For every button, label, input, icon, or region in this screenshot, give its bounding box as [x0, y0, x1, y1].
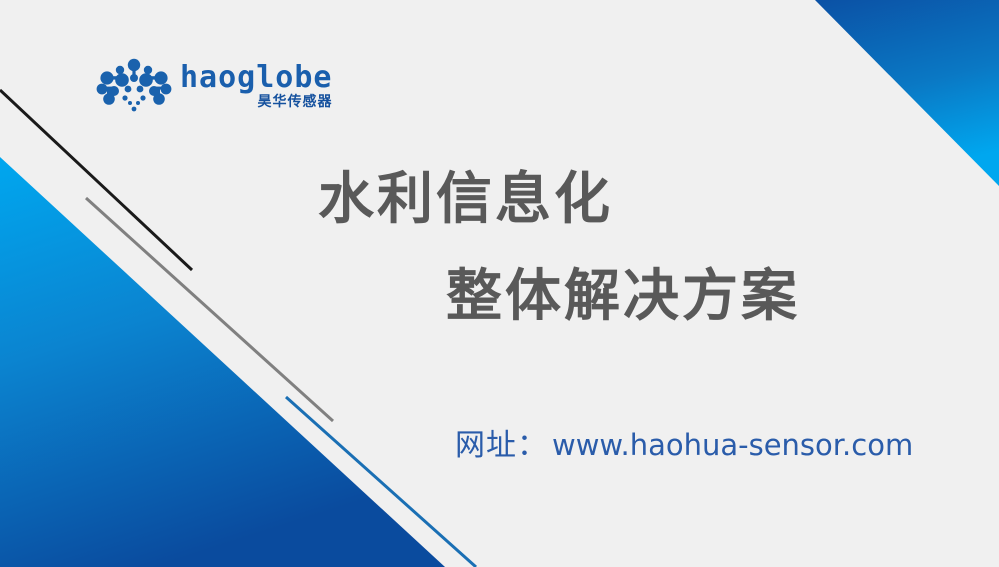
- logo-wordmark: haoglobe: [180, 63, 333, 93]
- website-url[interactable]: www.haohua-sensor.com: [552, 428, 913, 462]
- page-title-line-1: 水利信息化: [318, 168, 613, 232]
- logo-text-block: haoglobe 昊华传感器: [180, 63, 333, 109]
- website-label: 网址：: [455, 420, 548, 464]
- company-logo: haoglobe 昊华传感器: [96, 58, 333, 114]
- presentation-title-slide: haoglobe 昊华传感器 水利信息化 整体解决方案 网址： www.haoh…: [0, 0, 999, 567]
- page-title-line-2: 整体解决方案: [446, 265, 800, 329]
- website-line: 网址： www.haohua-sensor.com: [455, 420, 913, 464]
- logo-subtext: 昊华传感器: [258, 95, 333, 109]
- network-dots-icon: [96, 58, 172, 114]
